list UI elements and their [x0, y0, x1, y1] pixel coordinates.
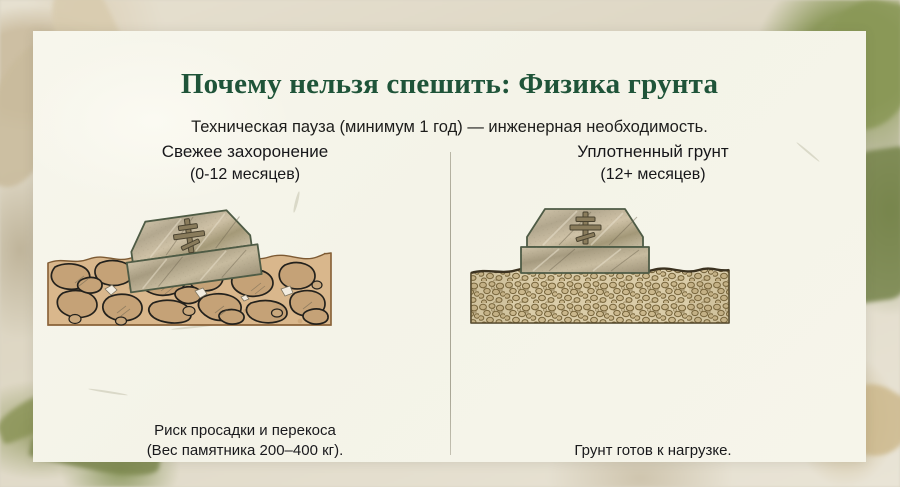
page-title: Почему нельзя спешить: Физика грунта: [33, 68, 866, 101]
illustration-tilted-gravestone: [45, 193, 445, 393]
slide-canvas: Почему нельзя спешить: Физика грунта Тех…: [0, 0, 900, 487]
content-card: Почему нельзя спешить: Физика грунта Тех…: [33, 31, 866, 462]
panel-caption: Риск просадки и перекоса (Вес памятника …: [45, 421, 445, 462]
soil-compacted: [471, 269, 729, 323]
gravestone-level: [521, 209, 649, 273]
page-subtitle: Техническая пауза (минимум 1 год) — инже…: [33, 118, 866, 137]
panel-heading-line2: (0-12 месяцев): [45, 164, 445, 185]
panel-caption-line2: (Вес памятника 200–400 кг).: [45, 441, 445, 461]
panel-heading-line1: Свежее захоронение: [45, 141, 445, 164]
panel-heading-line1: Уплотненный грунт: [453, 141, 853, 164]
panel-heading-line2: (12+ месяцев): [453, 164, 853, 185]
panel-heading: Свежее захоронение (0-12 месяцев): [45, 141, 445, 185]
panel-caption: Грунт готов к нагрузке.: [453, 441, 853, 461]
panel-divider: [450, 152, 451, 455]
panel-compacted-soil: Уплотненный грунт (12+ месяцев): [453, 141, 853, 461]
panel-fresh-burial: Свежее захоронение (0-12 месяцев): [45, 141, 445, 461]
illustration-level-gravestone: [453, 193, 853, 393]
panel-caption-line1: Грунт готов к нагрузке.: [453, 441, 853, 461]
panel-caption-line1: Риск просадки и перекоса: [45, 421, 445, 441]
panel-heading: Уплотненный грунт (12+ месяцев): [453, 141, 853, 185]
